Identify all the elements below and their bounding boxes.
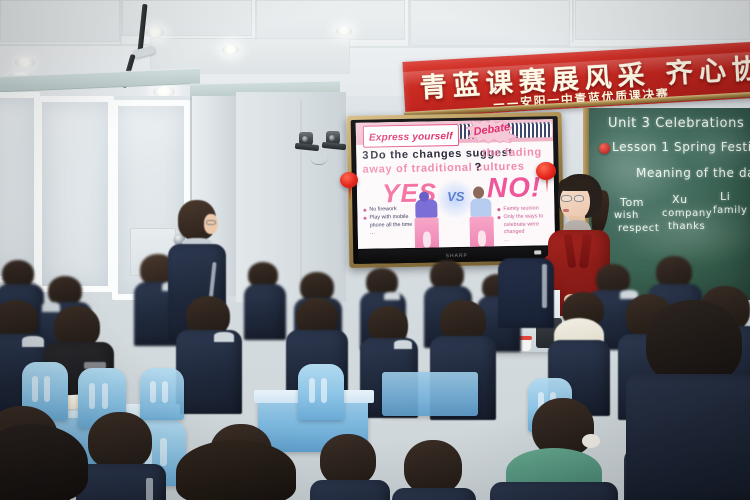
- presentation-slide: Express yourself Debate 3 Do the changes…: [356, 119, 555, 249]
- blackboard-magnet: [599, 143, 610, 154]
- blackboard-col2-name: Xu: [672, 193, 688, 206]
- red-pompom-decoration: [340, 172, 358, 188]
- question-part-2: the fading: [482, 146, 542, 159]
- blackboard-line-meaning: Meaning of the day: [636, 166, 750, 180]
- ceiling-downlight: [222, 45, 239, 55]
- ceiling-downlight: [146, 27, 164, 38]
- foreground-student: [636, 300, 750, 500]
- yes-point: Play with mobile: [363, 214, 415, 223]
- blackboard-col2-word-2: thanks: [668, 221, 705, 232]
- question-mark: ?: [474, 161, 482, 173]
- teacher-hair-fringe: [559, 177, 593, 191]
- teacher-glasses: [574, 195, 584, 202]
- teacher-glasses: [561, 195, 572, 202]
- foreground-student: [0, 424, 96, 500]
- ceiling-downlight: [336, 26, 352, 36]
- classroom-photo: 青蓝课赛展风采 齐心协力 ——安阳一中青蓝优质课决赛 Unit 3 Celebr…: [0, 0, 750, 500]
- debater-right: [470, 198, 491, 216]
- blackboard-line-lesson: Lesson 1 Spring Festival: [612, 140, 750, 154]
- debater-right-head: [473, 186, 484, 198]
- ceiling-downlight: [15, 57, 35, 68]
- slide-title-box: Express yourself: [363, 124, 459, 148]
- blackboard-col2-word-1: company: [662, 208, 712, 219]
- smart-board-screen[interactable]: Express yourself Debate 3 Do the changes…: [356, 119, 555, 249]
- teacher-mouth: [563, 209, 569, 212]
- speaker-bracket-left: [297, 132, 319, 156]
- yes-point: phone all the time: [364, 221, 416, 230]
- vs-label: VS: [447, 189, 465, 204]
- smart-board[interactable]: Express yourself Debate 3 Do the changes…: [347, 112, 565, 268]
- blackboard-col3-word-1: family: [713, 205, 747, 216]
- speaker-bracket-right: [324, 131, 346, 155]
- foreground-student: [176, 440, 306, 500]
- debater-left: [415, 199, 437, 217]
- slide-title: Express yourself: [369, 131, 453, 144]
- podium-right: [470, 216, 495, 249]
- blackboard-col3-name: Li: [720, 190, 730, 203]
- blackboard-line-unit: Unit 3 Celebrations: [608, 116, 744, 131]
- podium-left: [415, 217, 440, 249]
- question-number: 3: [362, 150, 369, 162]
- yes-points: No firework Play with mobile phone all t…: [363, 206, 416, 238]
- debate-badge: Debate: [466, 119, 518, 144]
- yes-point: …: [364, 229, 416, 238]
